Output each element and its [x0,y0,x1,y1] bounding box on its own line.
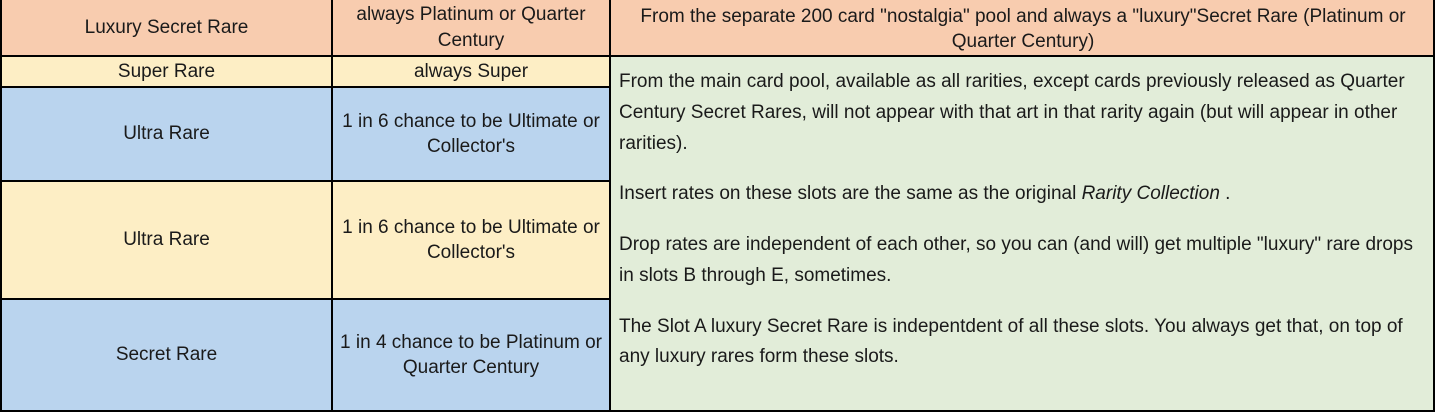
notes-spacer [619,296,1427,312]
upgrade-chance-label: 1 in 4 chance to be Platinum or Quarter … [339,330,603,381]
rarity-label: Luxury Secret Rare [85,15,249,40]
upgrade-chance-cell: 1 in 6 chance to be Ultimate or Collecto… [333,88,611,182]
table-row: Luxury Secret Rare [0,0,333,57]
notes-paragraph-2-suffix: . [1220,183,1231,204]
slot-a-description-text: From the separate 200 card "nostalgia" p… [619,4,1427,55]
notes-paragraph-3: Drop rates are independent of each other… [619,230,1427,292]
upgrade-chance-label: 1 in 6 chance to be Ultimate or Collecto… [339,109,603,160]
notes-paragraph-1: From the main card pool, available as al… [619,67,1427,159]
rarity-breakdown-table: Luxury Secret Rare always Platinum or Qu… [0,0,1435,412]
upgrade-chance-cell: 1 in 4 chance to be Platinum or Quarter … [333,300,611,412]
upgrade-chance-label: always Super [414,59,528,84]
slot-a-description-cell: From the separate 200 card "nostalgia" p… [611,0,1435,57]
upgrade-chance-label: always Platinum or Quarter Century [339,2,603,53]
table-row: Secret Rare [0,300,333,412]
notes-cell: From the main card pool, available as al… [611,57,1435,412]
upgrade-chance-cell: always Platinum or Quarter Century [333,0,611,57]
notes-paragraph-4: The Slot A luxury Secret Rare is indepen… [619,312,1427,374]
notes-spacer [619,163,1427,179]
rarity-label: Secret Rare [116,342,217,367]
table-grid: Luxury Secret Rare always Platinum or Qu… [0,0,1435,412]
upgrade-chance-label: 1 in 6 chance to be Ultimate or Collecto… [339,215,603,266]
table-row: Ultra Rare [0,182,333,300]
rarity-label: Ultra Rare [123,227,210,252]
upgrade-chance-cell: always Super [333,57,611,88]
notes-paragraph-2: Insert rates on these slots are the same… [619,179,1427,210]
rarity-collection-title: Rarity Collection [1082,183,1220,204]
notes-paragraph-2-prefix: Insert rates on these slots are the same… [619,183,1082,204]
notes-spacer [619,214,1427,230]
rarity-label: Super Rare [118,59,215,84]
table-row: Super Rare [0,57,333,88]
rarity-label: Ultra Rare [123,121,210,146]
upgrade-chance-cell: 1 in 6 chance to be Ultimate or Collecto… [333,182,611,300]
table-row: Ultra Rare [0,88,333,182]
